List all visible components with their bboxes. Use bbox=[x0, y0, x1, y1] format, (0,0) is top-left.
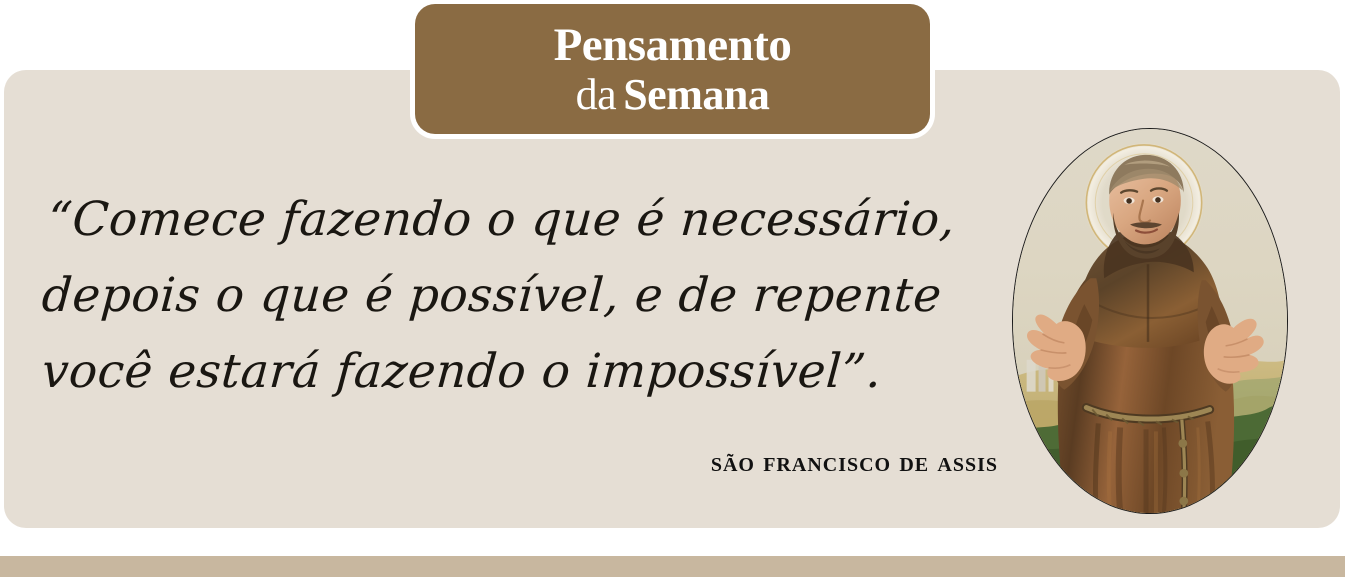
quote-line-1: “Comece fazendo o que é necessário, bbox=[35, 182, 1000, 258]
portrait-illustration bbox=[1013, 129, 1287, 513]
saint-francis-of-assisi-portrait-icon bbox=[1012, 128, 1288, 514]
quote-line-3: você estará fazendo o impossível”. bbox=[35, 334, 1000, 410]
quote-block: “Comece fazendo o que é necessário, depo… bbox=[38, 182, 998, 410]
header-title-line2: daSemana bbox=[576, 73, 770, 117]
attribution-author-name: São Francisco de Assis bbox=[711, 446, 998, 479]
quote-line-2: depois o que é possível, e de repente bbox=[35, 258, 1000, 334]
pensamento-da-semana-banner: Pensamento daSemana “Comece fazendo o qu… bbox=[0, 0, 1345, 577]
attribution: São Francisco de Assis bbox=[0, 446, 998, 479]
header-tab: Pensamento daSemana bbox=[415, 4, 930, 134]
header-title-line1: Pensamento bbox=[554, 22, 792, 69]
header-title-semana: Semana bbox=[623, 70, 769, 119]
bottom-accent-bar bbox=[0, 556, 1345, 577]
header-title-da: da bbox=[576, 70, 617, 119]
